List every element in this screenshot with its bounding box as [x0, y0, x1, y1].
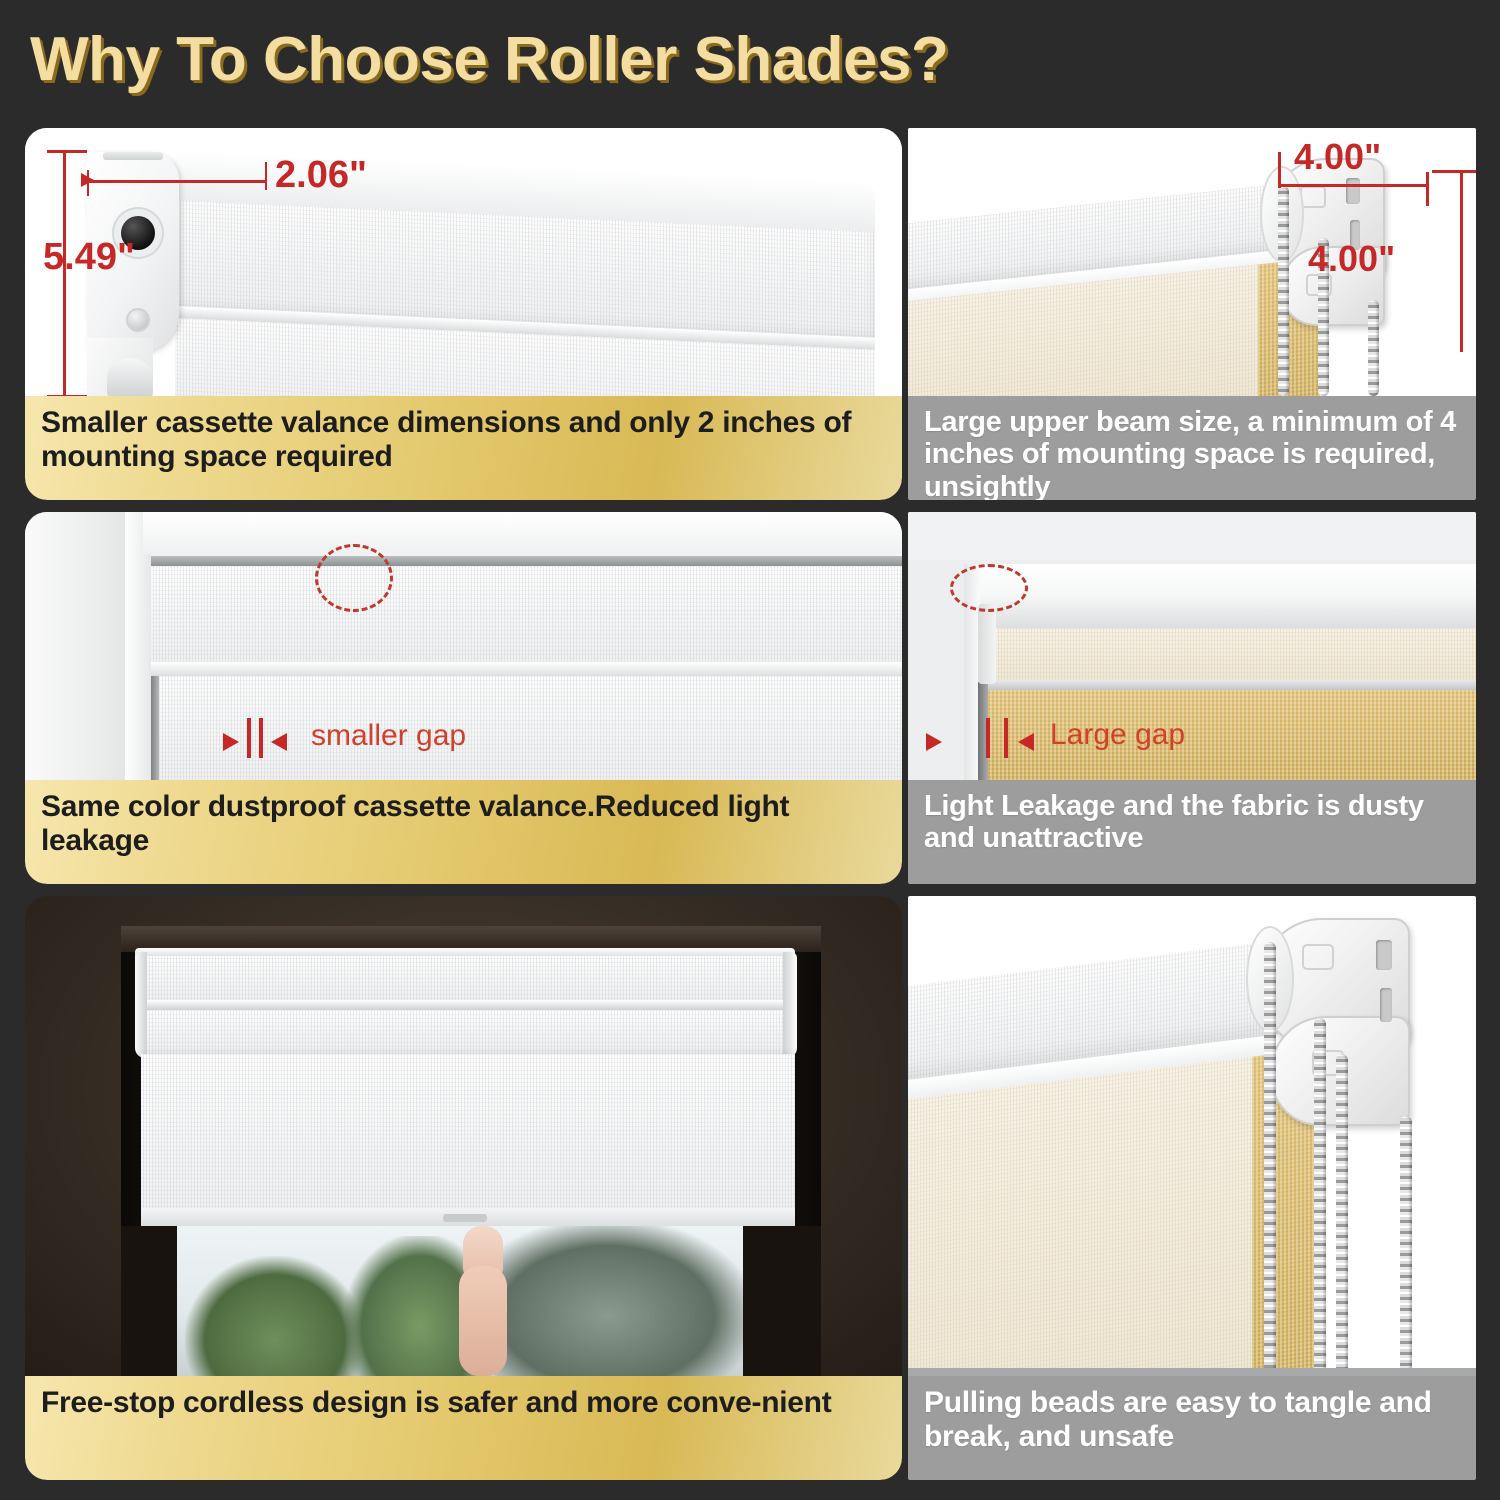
title-bar: Why To Choose Roller Shades?	[30, 18, 1470, 103]
hand	[455, 1226, 513, 1376]
panel-smaller-cassette-valance: 2.06" 5.49" Smaller cassette valance dim…	[25, 128, 902, 500]
jamb-left	[121, 1226, 177, 1376]
highlight-circle-large	[950, 564, 1028, 612]
fabric-rail	[978, 680, 1476, 690]
caption-light-leakage: Light Leakage and the fabric is dusty an…	[908, 780, 1476, 884]
bracket-strip	[978, 604, 996, 684]
valance-top-rail	[151, 556, 902, 566]
bead-chain-b	[1314, 1018, 1326, 1376]
gap-tick-right	[259, 718, 263, 758]
gap-arrow-left	[271, 733, 287, 751]
valance-front-face	[151, 566, 902, 666]
gap-shadow	[151, 676, 159, 780]
bead-chain-d	[1400, 1116, 1412, 1376]
photo-cassette-valance: 2.06" 5.49"	[25, 128, 902, 396]
dim-width-arrow	[81, 173, 94, 187]
jamb-right	[743, 1226, 821, 1376]
panel-light-leakage: Large gap Light Leakage and the fabric i…	[908, 512, 1476, 884]
valance-left-cap	[135, 952, 147, 1058]
comparison-grid: 2.06" 5.49" Smaller cassette valance dim…	[0, 108, 1500, 1500]
photo-window-scene	[25, 896, 902, 1376]
dim-width-line	[87, 180, 267, 183]
dim-h-line	[1460, 170, 1463, 352]
tree-right	[495, 1226, 745, 1376]
dim-height-label: 5.49"	[43, 236, 135, 279]
dim-w-tick-right	[1426, 172, 1429, 206]
endcap-top-rail	[103, 152, 163, 160]
valance-body	[135, 956, 795, 1002]
bracket-slot-b	[1380, 988, 1392, 1022]
panel-free-stop-cordless: Free-stop cordless design is safer and m…	[25, 896, 902, 1480]
bracket-slot-1	[1346, 178, 1360, 204]
valance-bottom-lip	[151, 662, 902, 676]
caption-pulling-beads: Pulling beads are easy to tangle and bre…	[908, 1376, 1476, 1480]
photo-bottom-strip	[908, 1368, 1476, 1376]
photo-large-beam: 4.00" 4.00"	[908, 128, 1476, 396]
bracket-slot-a	[1376, 940, 1392, 970]
caption-smaller-cassette-valance: Smaller cassette valance dimensions and …	[25, 396, 902, 500]
gap-arrow-left-large	[1018, 733, 1034, 751]
photo-large-gap: Large gap	[908, 512, 1476, 780]
shade-pull-tab	[443, 1214, 487, 1222]
dim-height-tick-top	[47, 150, 87, 153]
shade-upper-fold	[141, 1010, 795, 1054]
wall-top	[908, 512, 1476, 560]
panel-dustproof-cassette-valance: smaller gap Same color dustproof cassett…	[25, 512, 902, 884]
dim-width-tick-right	[265, 162, 267, 190]
bracket-emboss-a	[1302, 944, 1334, 970]
gap-tick-left	[247, 718, 251, 758]
bead-chain-a	[1264, 942, 1276, 1376]
mount-clip-icon	[107, 358, 153, 396]
gap-arrow-right	[223, 733, 239, 751]
highlight-circle	[315, 544, 393, 612]
valance-lip	[135, 1000, 795, 1010]
hand-arm	[459, 1266, 507, 1376]
fabric-cream-big	[908, 1052, 1290, 1376]
caption-dustproof-cassette-valance: Same color dustproof cassette valance.Re…	[25, 780, 902, 884]
gap-tick-right-large	[1004, 718, 1008, 758]
dim-width-label: 2.06"	[275, 154, 367, 197]
valance-cap	[135, 948, 795, 956]
photo-bead-chains	[908, 896, 1476, 1376]
caption-free-stop-cordless: Free-stop cordless design is safer and m…	[25, 1376, 902, 1480]
dim-w-line	[1278, 184, 1428, 187]
gap-tick-left-large	[986, 718, 990, 758]
bead-chain-c	[1336, 1054, 1348, 1376]
page-title: Why To Choose Roller Shades?	[30, 18, 1470, 102]
gap-arrow-right-large	[926, 733, 942, 751]
panel-pulling-beads: Pulling beads are easy to tangle and bre…	[908, 896, 1476, 1480]
dim-h-label: 4.00"	[1308, 238, 1395, 280]
roller-tube-large	[968, 564, 1476, 634]
dim-h-tick-top	[1432, 170, 1476, 173]
gap-label-smaller: smaller gap	[311, 719, 466, 753]
caption-large-upper-beam: Large upper beam size, a minimum of 4 in…	[908, 396, 1476, 500]
dim-w-label: 4.00"	[1294, 136, 1381, 178]
photo-smaller-gap: smaller gap	[25, 512, 902, 780]
dim-w-tick-left	[1278, 152, 1281, 188]
gap-label-large: Large gap	[1050, 718, 1185, 752]
shade-fabric-cream	[978, 628, 1476, 684]
bracket-emboss-icon-1	[1300, 186, 1326, 208]
window-frame-top	[143, 512, 902, 554]
bead-chain-3	[1368, 300, 1379, 396]
panel-large-upper-beam: 4.00" 4.00" Large upper beam size, a min…	[908, 128, 1476, 500]
tree-left	[185, 1256, 365, 1376]
shade-main-fabric	[141, 1054, 795, 1222]
shade-fabric-panel	[157, 676, 902, 780]
valance-right-cap	[783, 952, 797, 1058]
bead-chain-1	[1278, 186, 1289, 396]
screw-icon	[128, 310, 148, 330]
